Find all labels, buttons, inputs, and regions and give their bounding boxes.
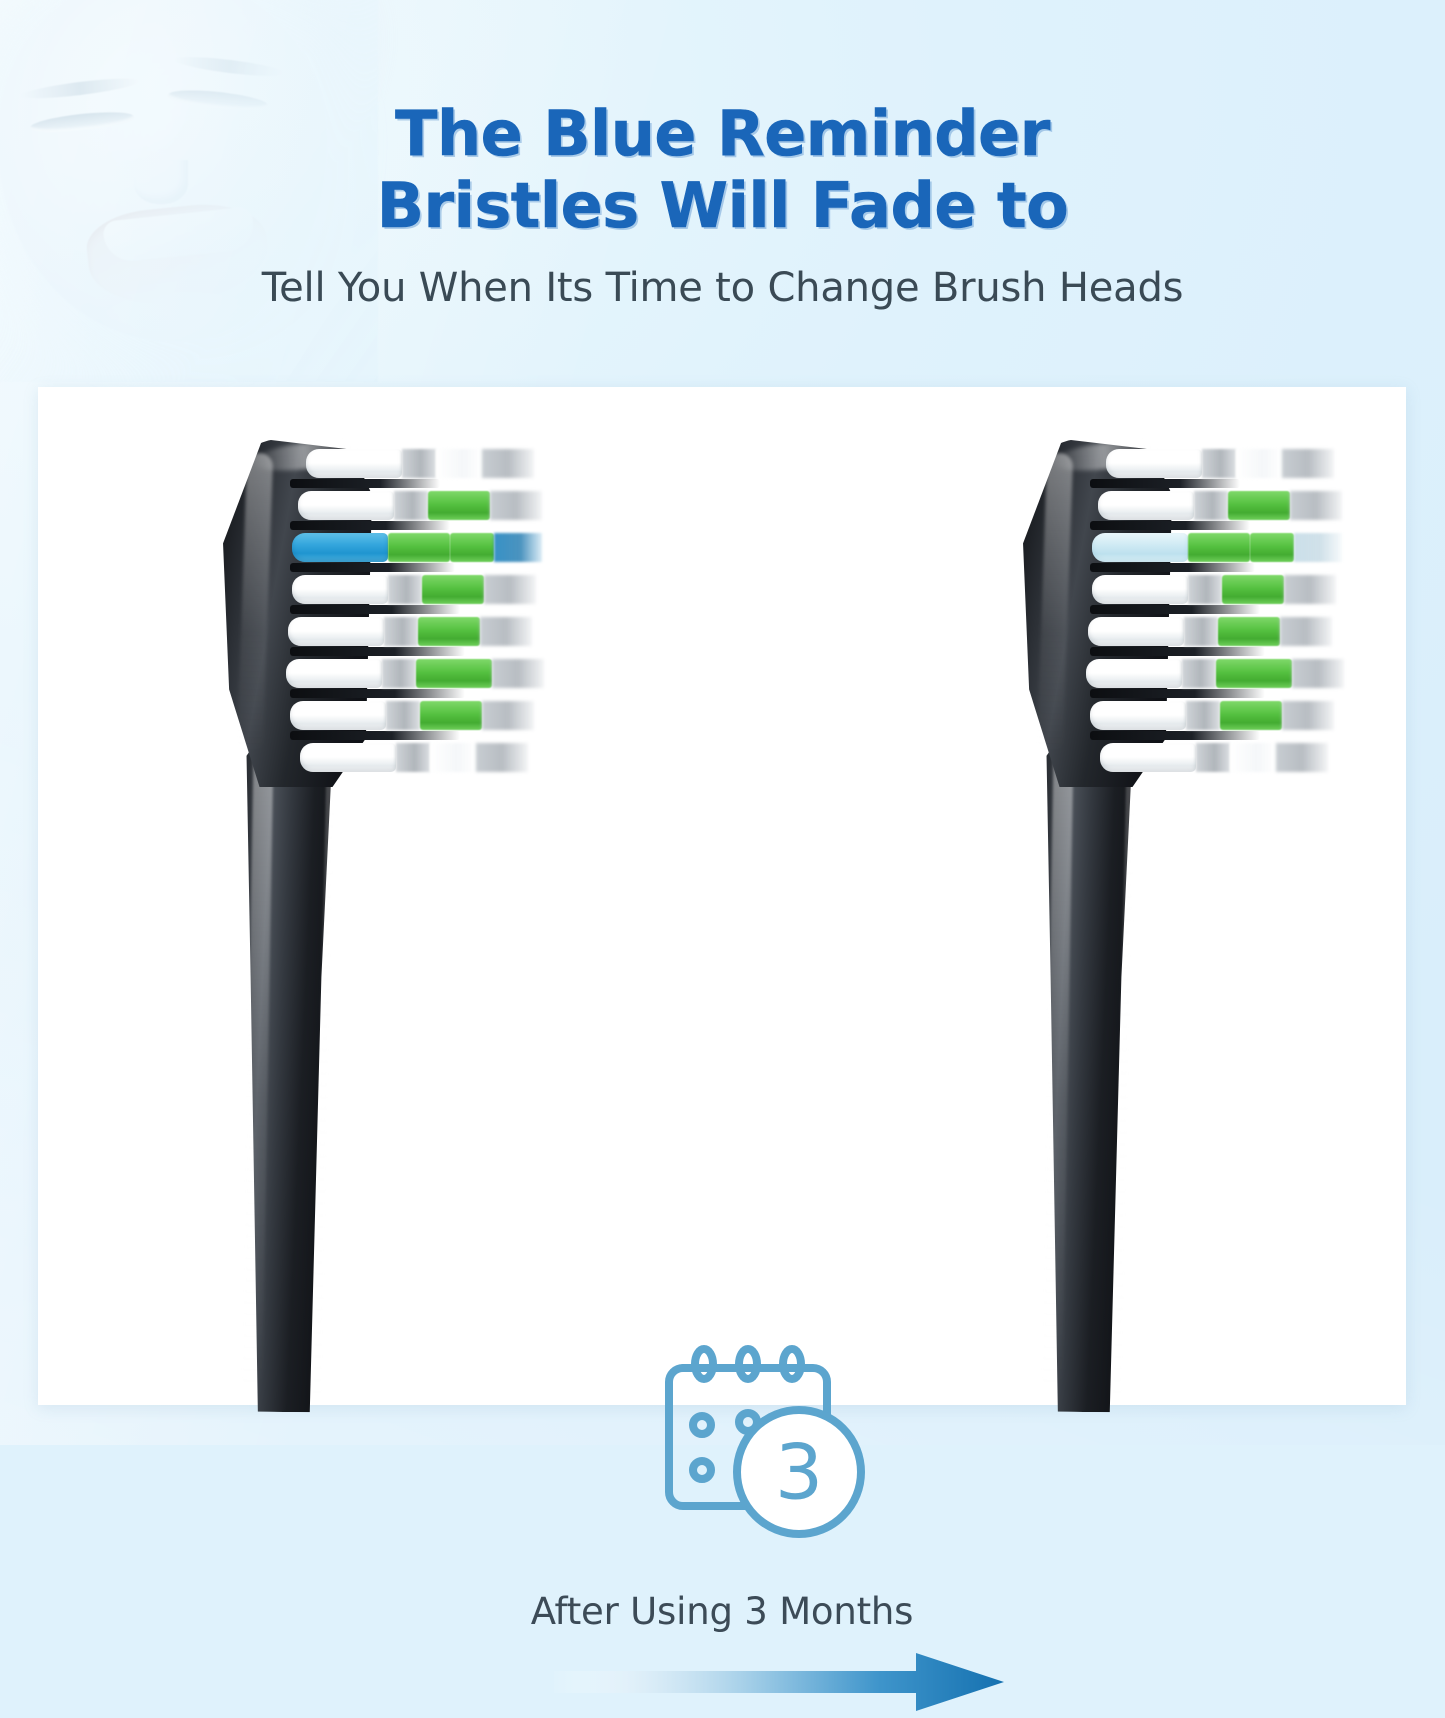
bristle-row (1090, 701, 1334, 730)
bristle-row (298, 491, 542, 520)
bristle-row (1098, 491, 1342, 520)
page-title-line1: The Blue Reminder (0, 98, 1445, 170)
calendar-dot-1 (693, 1416, 711, 1434)
bristle-row (290, 701, 534, 730)
bristle-rows (1094, 445, 1344, 785)
bristle-row (306, 449, 534, 478)
bristle-row (292, 575, 536, 604)
bristle-row (1092, 575, 1336, 604)
page-title-line2: Bristles Will Fade to (0, 170, 1445, 242)
calendar-dot-3 (693, 1461, 711, 1479)
new-brush-head (198, 387, 538, 1405)
right-arrow-icon (554, 1651, 1004, 1713)
bristle-row (1106, 449, 1334, 478)
bristle-rows (294, 445, 544, 785)
bristle-row-reminder (292, 533, 542, 562)
product-card: 3 After Using 3 Months (38, 387, 1406, 1405)
bristle-row (1086, 659, 1344, 688)
bristle-row (300, 743, 528, 772)
bristle-row (1088, 617, 1332, 646)
bristle-row (286, 659, 544, 688)
infographic-canvas: The Blue Reminder Bristles Will Fade to … (0, 0, 1445, 1445)
used-brush-head (998, 387, 1338, 1405)
after-months-caption: After Using 3 Months (38, 1590, 1406, 1633)
bristle-row (288, 617, 532, 646)
calendar-badge-number: 3 (775, 1428, 823, 1517)
header-block: The Blue Reminder Bristles Will Fade to … (0, 98, 1445, 314)
bristle-row-reminder-faded (1092, 533, 1342, 562)
page-subtitle: Tell You When Its Time to Change Brush H… (0, 262, 1445, 314)
calendar-3-months-icon: 3 (651, 1332, 881, 1547)
bristle-row (1100, 743, 1328, 772)
